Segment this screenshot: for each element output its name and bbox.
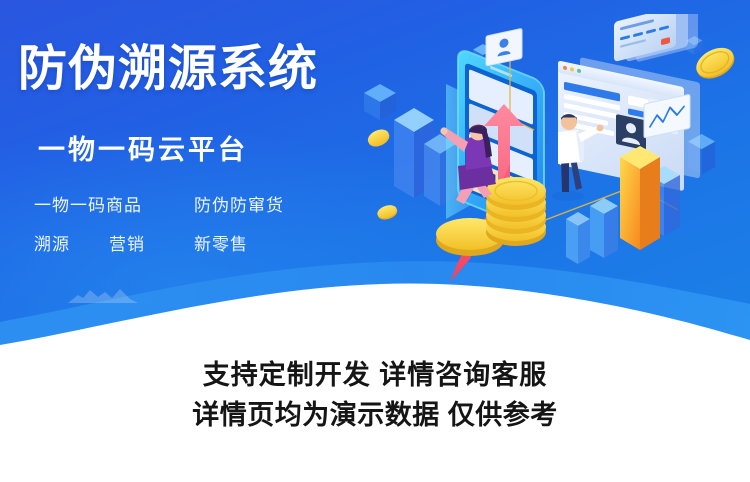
feature-tag: 营销 bbox=[109, 233, 145, 257]
page-title: 防伪溯源系统 bbox=[18, 40, 318, 98]
feature-tag: 溯源 bbox=[34, 233, 70, 257]
feature-list: 一物一码商品 防伪防窜货 溯源 营销 新零售 bbox=[34, 194, 364, 272]
avatar bbox=[616, 114, 646, 150]
feature-row: 一物一码商品 防伪防窜货 bbox=[34, 194, 364, 233]
feature-row: 溯源 营销 新零售 bbox=[34, 233, 364, 272]
isometric-traceability-illustration bbox=[358, 14, 750, 304]
feature-tag: 一物一码商品 bbox=[34, 194, 142, 218]
feature-tag: 新零售 bbox=[194, 233, 248, 257]
footer-line-1: 支持定制开发 详情咨询客服 bbox=[0, 355, 750, 395]
mountain-silhouette-icon bbox=[68, 285, 138, 303]
promo-banner: 防伪溯源系统 一物一码云平台 一物一码商品 防伪防窜货 溯源 营销 新零售 bbox=[0, 0, 750, 482]
footer-text-block: 支持定制开发 详情咨询客服 详情页均为演示数据 仅供参考 bbox=[0, 355, 750, 435]
feature-tag: 防伪防窜货 bbox=[194, 194, 284, 218]
footer-line-2: 详情页均为演示数据 仅供参考 bbox=[0, 395, 750, 435]
page-subtitle: 一物一码云平台 bbox=[38, 133, 248, 167]
credit-card-icon bbox=[614, 14, 698, 63]
